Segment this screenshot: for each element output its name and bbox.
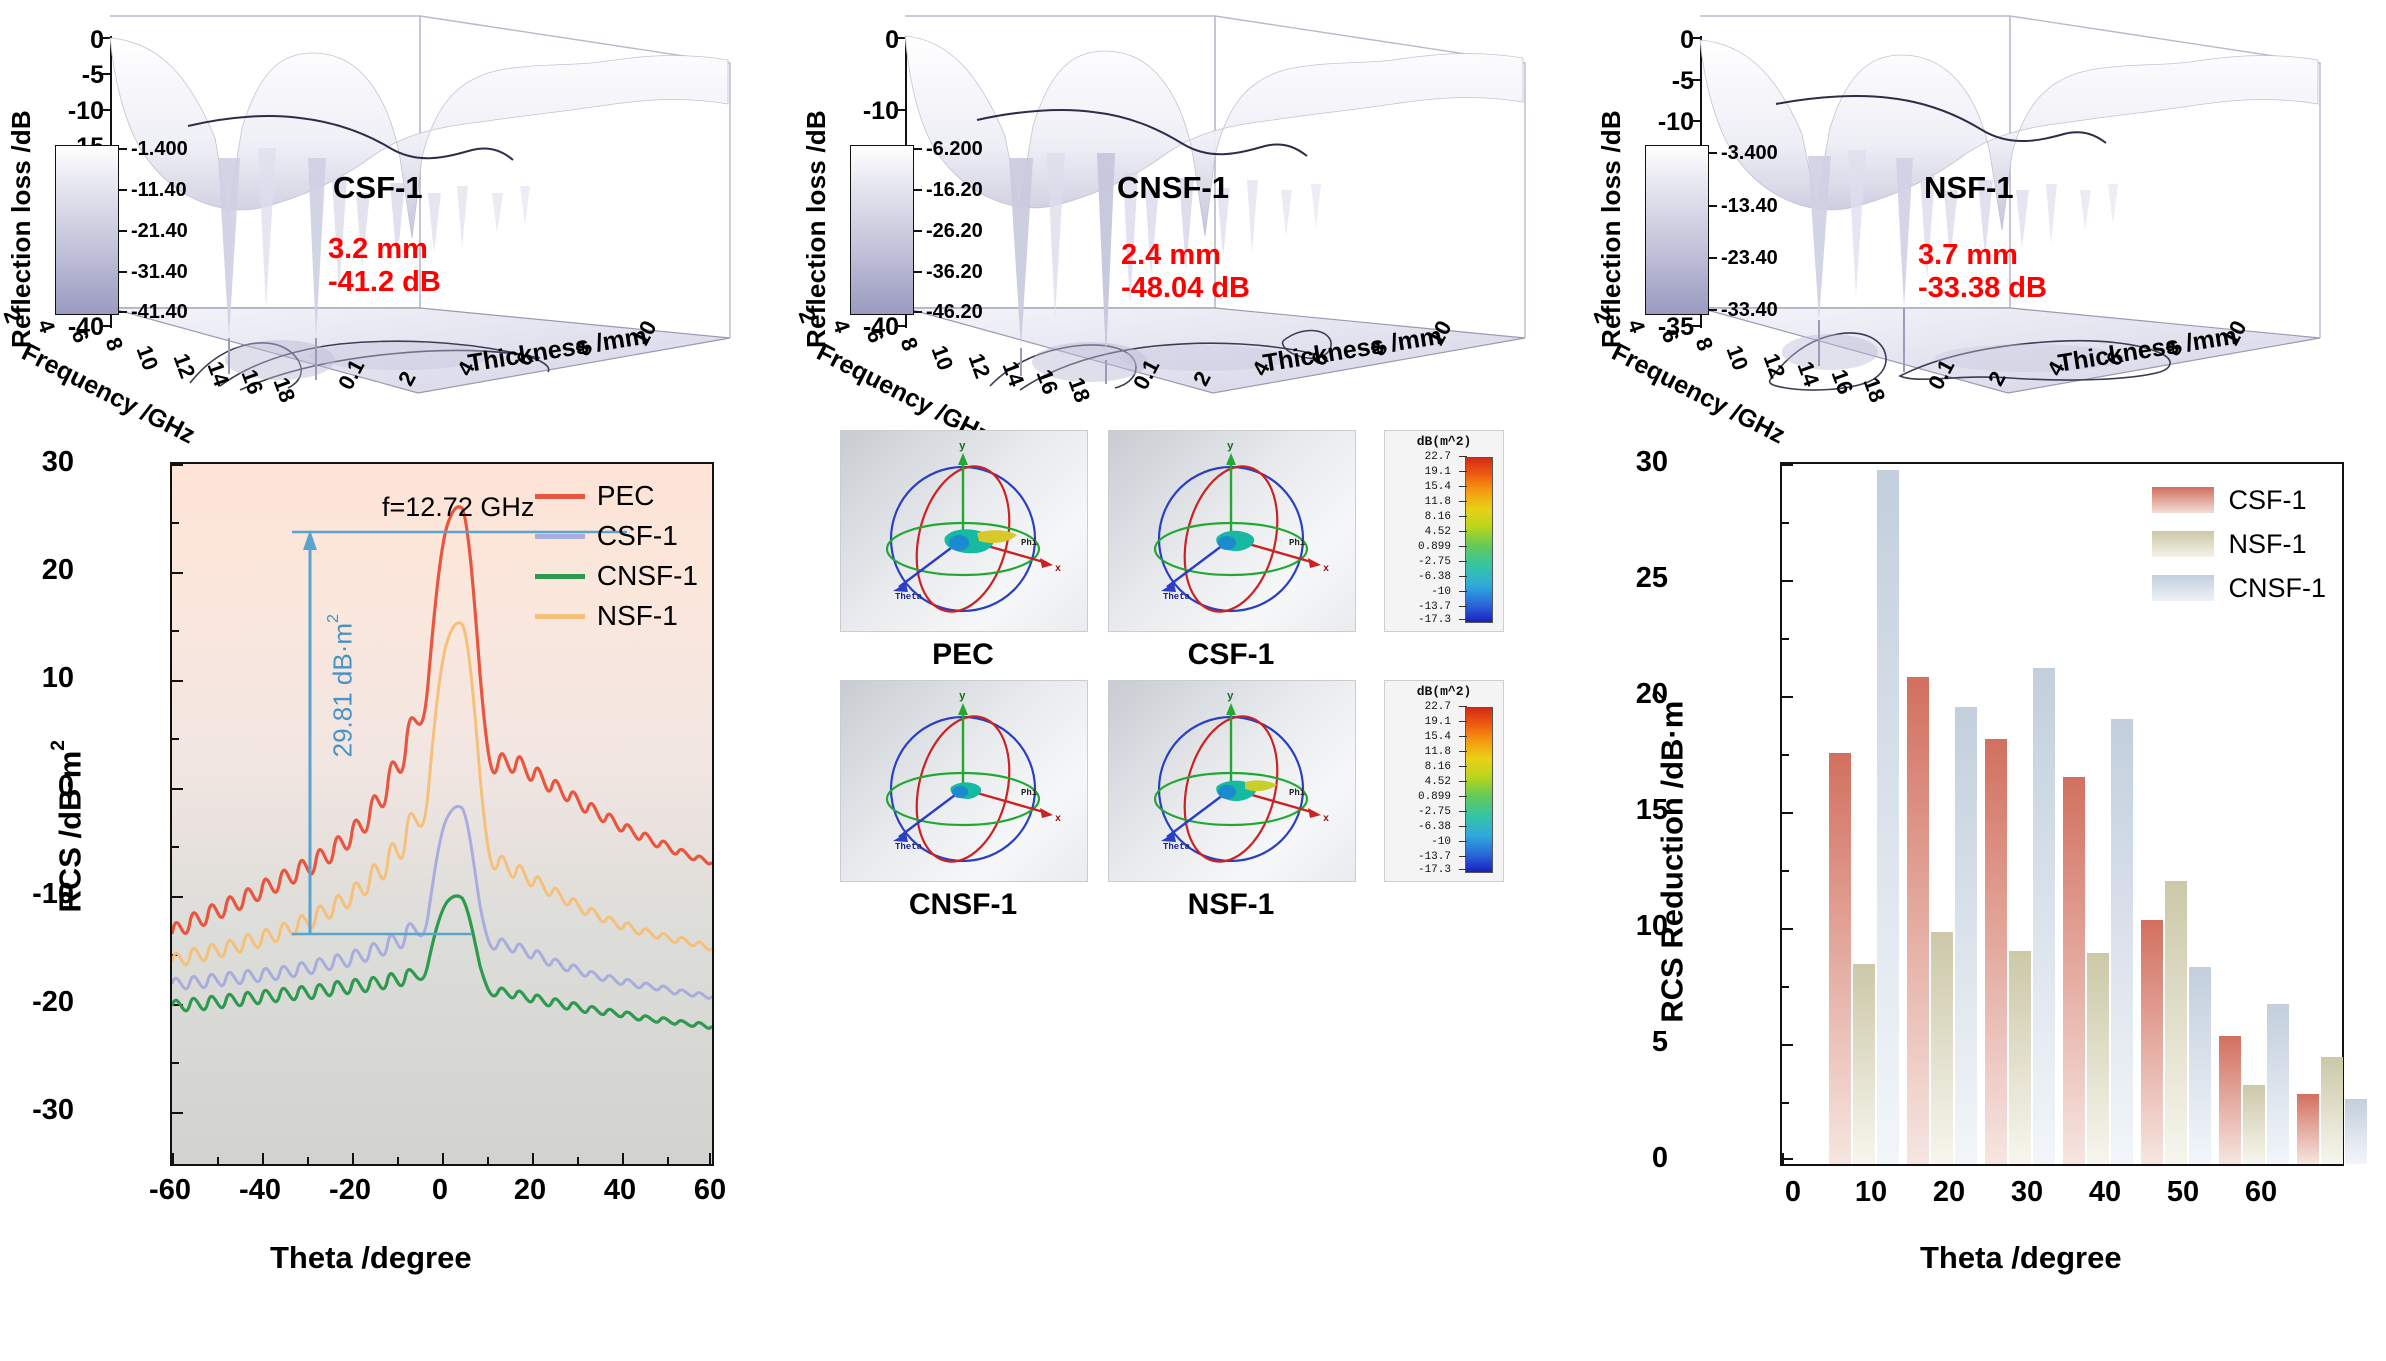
- colorbar-tick: -1.400: [131, 138, 188, 161]
- cst-colorbar-tick: -2.75: [1391, 806, 1451, 818]
- bar-y-tick: 0: [1548, 1142, 1668, 1175]
- bar-y-tick: 5: [1548, 1026, 1668, 1059]
- cst-colorbar-tick: 8.16: [1391, 761, 1451, 773]
- bar-cnsf-1-10: [1955, 707, 1977, 1164]
- cst-colorbar-tick: -17.3: [1391, 864, 1451, 876]
- rcs-y-tick: 30: [0, 446, 74, 479]
- sample-label-nsf1: NSF-1: [1924, 170, 2014, 206]
- legend-item-cnsf1[interactable]: CNSF-1: [535, 556, 698, 596]
- bar-csf-1-0: [1829, 753, 1851, 1164]
- cst-colorbar-tick: 11.8: [1391, 746, 1451, 758]
- bar-legend: CSF-1 NSF-1 CNSF-1: [2152, 478, 2326, 610]
- colorbar-tick: -21.40: [131, 220, 188, 243]
- rcs-line-chart: RCS /dB·m2 30 20 10 0 -10 -20 -30 -60 -4…: [20, 440, 780, 1345]
- rcs-x-tick: 60: [655, 1174, 765, 1207]
- y-tick: -5: [50, 61, 104, 90]
- svg-text:y: y: [1227, 691, 1234, 703]
- cst-pattern-pec: y x Theta Phi: [840, 430, 1088, 632]
- svg-text:x: x: [1055, 564, 1061, 575]
- bar-nsf-1-10: [1931, 932, 1953, 1164]
- cst-colorbar-inner: 22.7 19.1 15.4 11.8 8.16 4.52 0.899 -2.7…: [1391, 453, 1497, 625]
- bar-csf-1-30: [2063, 777, 2085, 1164]
- svg-text:y: y: [959, 441, 966, 453]
- bar-cnsf-1-40: [2189, 967, 2211, 1164]
- sample-label-cnsf1: CNSF-1: [1117, 170, 1229, 206]
- svg-text:Phi: Phi: [1021, 538, 1038, 548]
- bar-nsf-1-40: [2165, 881, 2187, 1164]
- legend-label-pec: PEC: [597, 480, 655, 512]
- legend-swatch-csf1: [2152, 487, 2214, 513]
- annotation-rl-csf1: -41.2 dB: [328, 265, 441, 300]
- svg-text:Theta: Theta: [1163, 842, 1191, 852]
- bar-csf-1-50: [2219, 1036, 2241, 1164]
- legend-item-csf1[interactable]: CSF-1: [535, 516, 698, 556]
- rcs-y-tick: 20: [0, 554, 74, 587]
- bar-csf-1-60: [2297, 1094, 2319, 1164]
- cst-colorbar-tick: -6.38: [1391, 821, 1451, 833]
- sample-label-csf1: CSF-1: [333, 170, 423, 206]
- legend-item-cnsf1[interactable]: CNSF-1: [2152, 566, 2326, 610]
- cst-colorbar-tick: 15.4: [1391, 481, 1451, 493]
- legend-label-cnsf1: CNSF-1: [2228, 573, 2326, 604]
- cst-colorbar-tick: 4.52: [1391, 776, 1451, 788]
- bar-nsf-1-30: [2087, 953, 2109, 1164]
- svg-text:Theta: Theta: [895, 592, 923, 602]
- rcs-y-tick: -10: [0, 878, 74, 911]
- y-tick: -10: [837, 97, 899, 126]
- cst-colorbar-title: dB(m^2): [1385, 431, 1503, 449]
- legend-swatch-csf1: [535, 534, 585, 539]
- axis-title-reflection-loss: Reflection loss /dB: [6, 58, 37, 348]
- bar-plot-area: CSF-1 NSF-1 CNSF-1: [1780, 462, 2344, 1166]
- bar-y-tick: 20: [1548, 678, 1668, 711]
- legend-swatch-cnsf1: [2152, 575, 2214, 601]
- y-tick: 0: [853, 26, 899, 55]
- bar-y-axis-title: RCS Reduction /dB·m2: [1650, 690, 1690, 1023]
- colorbar-tick: -31.40: [131, 261, 188, 284]
- colorbar-tick: -36.20: [926, 261, 983, 284]
- cst-colorbar-tick: 22.7: [1391, 701, 1451, 713]
- bar-nsf-1-0: [1853, 964, 1875, 1164]
- cst-caption-pec: PEC: [840, 638, 1086, 672]
- svg-text:x: x: [1055, 814, 1061, 825]
- legend-item-nsf1[interactable]: NSF-1: [2152, 522, 2326, 566]
- rcs-y-tick: -20: [0, 986, 74, 1019]
- cst-caption-csf1: CSF-1: [1108, 638, 1354, 672]
- radiation-pattern-svg: y x Theta Phi: [841, 431, 1085, 629]
- svg-text:Phi: Phi: [1021, 788, 1038, 798]
- bar-y-tick: 30: [1548, 446, 1668, 479]
- series-csf1: [172, 806, 712, 998]
- colorbar-gradient: [56, 146, 118, 314]
- cst-caption-cnsf1: CNSF-1: [840, 888, 1086, 922]
- colorbar-nsf1: [1645, 145, 1709, 315]
- svg-text:Theta: Theta: [1163, 592, 1191, 602]
- cst-colorbar-top: dB(m^2) 22.7 19.1 15.4 11.8 8.16 4.52 0.…: [1384, 430, 1504, 632]
- colorbar-tick: -41.40: [131, 301, 188, 324]
- rcs-y-tick: 0: [0, 770, 74, 803]
- cst-colorbar-tick: -13.7: [1391, 601, 1451, 613]
- bar-cnsf-1-60: [2345, 1099, 2367, 1164]
- svg-text:x: x: [1323, 814, 1329, 825]
- colorbar-tick: -6.200: [926, 138, 983, 161]
- annotation-thickness-csf1: 3.2 mm: [328, 232, 428, 267]
- y-tick: 0: [58, 26, 104, 55]
- cst-colorbar-tick: 11.8: [1391, 496, 1451, 508]
- svg-text:Phi: Phi: [1289, 788, 1306, 798]
- annotation-rl-nsf1: -33.38 dB: [1918, 271, 2047, 306]
- bar-y-tick: 10: [1548, 910, 1668, 943]
- legend-swatch-nsf1: [2152, 531, 2214, 557]
- colorbar-tick: -16.20: [926, 179, 983, 202]
- legend-label-nsf1: NSF-1: [2228, 529, 2306, 560]
- bar-nsf-1-50: [2243, 1085, 2265, 1164]
- svg-text:Theta: Theta: [895, 842, 923, 852]
- bar-nsf-1-20: [2009, 951, 2031, 1164]
- figure-root: Reflection loss /dB 0 -5 -10 -15 -20 -25…: [0, 0, 2386, 1361]
- bar-x-axis-title: Theta /degree: [1920, 1240, 2122, 1276]
- cst-colorbar-bottom: dB(m^2) 22.7 19.1 15.4 11.8 8.16 4.52 0.…: [1384, 680, 1504, 882]
- axis-title-reflection-loss: Reflection loss /dB: [801, 58, 832, 348]
- cst-colorbar-scale: [1465, 457, 1493, 623]
- bar-cnsf-1-0: [1877, 470, 1899, 1164]
- cst-colorbar-tick: -13.7: [1391, 851, 1451, 863]
- panel-3d-csf1: Reflection loss /dB 0 -5 -10 -15 -20 -25…: [0, 0, 790, 440]
- colorbar-tick: -26.20: [926, 220, 983, 243]
- cst-pattern-nsf1: y x Theta Phi: [1108, 680, 1356, 882]
- legend-swatch-pec: [535, 494, 585, 499]
- colorbar-csf1: [55, 145, 119, 315]
- cst-pattern-csf1: y x Theta Phi: [1108, 430, 1356, 632]
- cst-colorbar-tick: -17.3: [1391, 614, 1451, 626]
- cst-colorbar-tick: -6.38: [1391, 571, 1451, 583]
- cst-colorbar-tick: -2.75: [1391, 556, 1451, 568]
- colorbar-tick: -33.40: [1721, 299, 1778, 322]
- legend-item-nsf1[interactable]: NSF-1: [535, 596, 698, 636]
- bar-y-tick: 25: [1548, 562, 1668, 595]
- legend-label-cnsf1: CNSF-1: [597, 560, 698, 592]
- series-cnsf1: [172, 896, 712, 1028]
- rcs-reduction-bar-chart: RCS Reduction /dB·m2 30 25 20 15 10 5 0 …: [1620, 440, 2380, 1345]
- legend-swatch-cnsf1: [535, 574, 585, 579]
- radiation-pattern-svg: y x Theta Phi: [841, 681, 1085, 879]
- bar-csf-1-20: [1985, 739, 2007, 1164]
- legend-item-csf1[interactable]: CSF-1: [2152, 478, 2326, 522]
- cst-colorbar-tick: -10: [1391, 836, 1451, 848]
- axis-title-reflection-loss: Reflection loss /dB: [1596, 58, 1627, 348]
- cst-caption-nsf1: NSF-1: [1108, 888, 1354, 922]
- legend-label-nsf1: NSF-1: [597, 600, 678, 632]
- panel-3d-cnsf1: Reflection loss /dB 0 -10 -20 -30 -40: [795, 0, 1585, 440]
- cst-colorbar-title: dB(m^2): [1385, 681, 1503, 699]
- annotation-thickness-cnsf1: 2.4 mm: [1121, 238, 1221, 273]
- annotation-thickness-nsf1: 3.7 mm: [1918, 238, 2018, 273]
- rcs-x-axis-title: Theta /degree: [270, 1240, 472, 1276]
- cst-colorbar-tick: -10: [1391, 586, 1451, 598]
- y-tick: 0: [1648, 26, 1694, 55]
- colorbar-gradient: [1646, 146, 1708, 314]
- cst-pattern-cnsf1: y x Theta Phi: [840, 680, 1088, 882]
- colorbar-tick: -11.40: [131, 179, 187, 202]
- cst-colorbar-tick: 19.1: [1391, 716, 1451, 728]
- cst-colorbar-tick: 8.16: [1391, 511, 1451, 523]
- cst-colorbar-tick: 19.1: [1391, 466, 1451, 478]
- colorbar-tick: -23.40: [1721, 247, 1778, 270]
- bar-nsf-1-60: [2321, 1057, 2343, 1164]
- colorbar-gradient: [851, 146, 913, 314]
- radiation-pattern-svg: y x Theta Phi: [1109, 431, 1353, 629]
- y-tick: -5: [1640, 67, 1694, 96]
- rcs-plot-area: f=12.72 GHz 29.81 dB·m2 PEC CSF-1 CNSF-1: [170, 462, 714, 1166]
- legend-label-csf1: CSF-1: [597, 520, 678, 552]
- cst-colorbar-tick: 0.899: [1391, 541, 1451, 553]
- bar-cnsf-1-50: [2267, 1004, 2289, 1164]
- colorbar-tick: -3.400: [1721, 142, 1778, 165]
- rcs-y-tick: 10: [0, 662, 74, 695]
- annotation-rl-cnsf1: -48.04 dB: [1121, 271, 1250, 306]
- bar-cnsf-1-30: [2111, 719, 2133, 1164]
- cst-colorbar-tick: 0.899: [1391, 791, 1451, 803]
- cst-colorbar-tick: 15.4: [1391, 731, 1451, 743]
- rcs-y-tick: -30: [0, 1094, 74, 1127]
- bar-x-tick: 60: [2206, 1176, 2316, 1209]
- rcs-legend: PEC CSF-1 CNSF-1 NSF-1: [535, 476, 698, 636]
- bar-cnsf-1-20: [2033, 668, 2055, 1164]
- panel-3d-nsf1: Reflection loss /dB 0 -5 -10 -15 -20 -25…: [1590, 0, 2380, 440]
- cst-colorbar-tick: 22.7: [1391, 451, 1451, 463]
- cst-colorbar-scale: [1465, 707, 1493, 873]
- colorbar-cnsf1: [850, 145, 914, 315]
- bar-csf-1-40: [2141, 920, 2163, 1164]
- cst-colorbar-inner: 22.7 19.1 15.4 11.8 8.16 4.52 0.899 -2.7…: [1391, 703, 1497, 875]
- cst-pattern-group: y x Theta Phi PEC y: [840, 430, 1560, 1335]
- legend-item-pec[interactable]: PEC: [535, 476, 698, 516]
- svg-text:y: y: [1227, 441, 1234, 453]
- svg-text:y: y: [959, 691, 966, 703]
- bar-csf-1-10: [1907, 677, 1929, 1164]
- svg-text:Phi: Phi: [1289, 538, 1306, 548]
- cst-colorbar-tick: 4.52: [1391, 526, 1451, 538]
- rcs-frequency-annotation: f=12.72 GHz: [382, 492, 534, 523]
- y-tick: -10: [1632, 108, 1694, 137]
- legend-label-csf1: CSF-1: [2228, 485, 2306, 516]
- y-tick: -10: [42, 97, 104, 126]
- radiation-pattern-svg: y x Theta Phi: [1109, 681, 1353, 879]
- rcs-reduction-annotation: 29.81 dB·m2: [324, 614, 359, 757]
- colorbar-tick: -46.20: [926, 301, 983, 324]
- legend-swatch-nsf1: [535, 614, 585, 619]
- bar-y-tick: 15: [1548, 794, 1668, 827]
- svg-text:x: x: [1323, 564, 1329, 575]
- colorbar-tick: -13.40: [1721, 195, 1778, 218]
